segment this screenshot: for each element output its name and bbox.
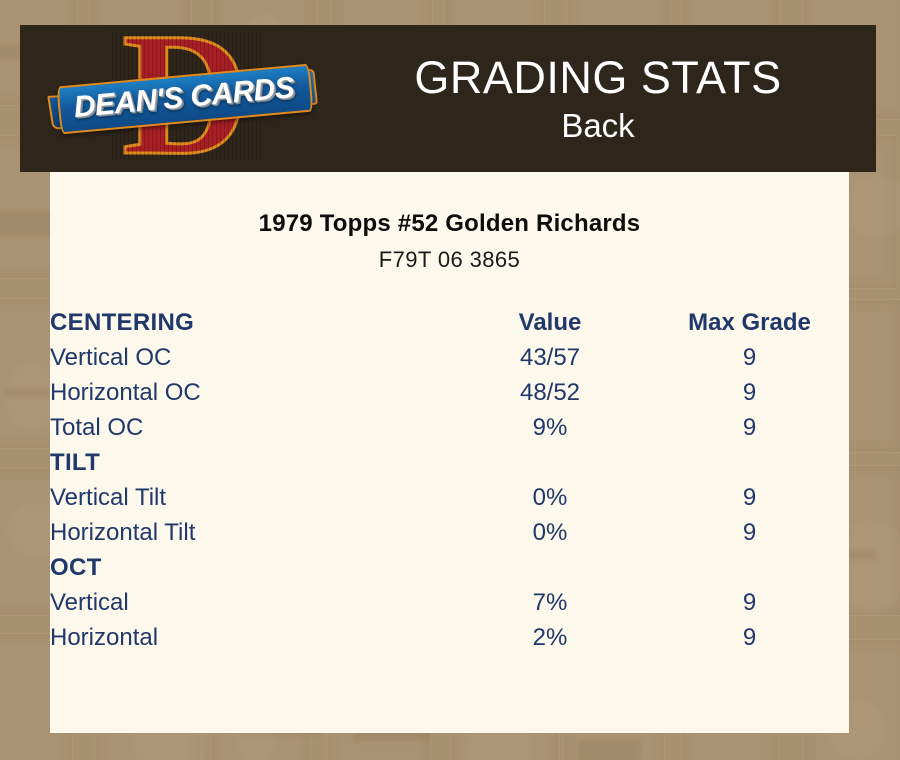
column-header-max-grade (650, 550, 849, 585)
stat-value: 2% (450, 620, 650, 655)
section-header-label: TILT (50, 445, 450, 480)
card-title: 1979 Topps #52 Golden Richards (50, 210, 849, 238)
card-code: F79T 06 3865 (50, 247, 849, 273)
column-header-value: Value (450, 305, 650, 340)
column-header-value (450, 550, 650, 585)
stat-label: Vertical Tilt (50, 480, 450, 515)
section-header-row: CENTERINGValueMax Grade (50, 305, 849, 340)
stat-label: Total OC (50, 410, 450, 445)
table-row: Vertical OC43/579 (50, 340, 849, 375)
header-title-block: GRADING STATS Back (320, 25, 876, 172)
stat-label: Horizontal Tilt (50, 515, 450, 550)
section-header-label: CENTERING (50, 305, 450, 340)
table-row: Horizontal2%9 (50, 620, 849, 655)
table-row: Total OC9%9 (50, 410, 849, 445)
content-panel: 1979 Topps #52 Golden Richards F79T 06 3… (50, 172, 849, 733)
section-header-row: TILT (50, 445, 849, 480)
column-header-max-grade: Max Grade (650, 305, 849, 340)
logo-ribbon: DEAN'S CARDS (50, 69, 316, 131)
table-row: Horizontal Tilt0%9 (50, 515, 849, 550)
section-header-label: OCT (50, 550, 450, 585)
stat-value: 48/52 (450, 375, 650, 410)
stat-label: Horizontal (50, 620, 450, 655)
deans-cards-logo[interactable]: D DEAN'S CARDS (50, 25, 320, 172)
header-band: D DEAN'S CARDS GRADING STATS Back (20, 25, 876, 172)
stat-label: Vertical OC (50, 340, 450, 375)
stat-value: 43/57 (450, 340, 650, 375)
stat-value: 0% (450, 515, 650, 550)
section-header-row: OCT (50, 550, 849, 585)
table-row: Vertical Tilt0%9 (50, 480, 849, 515)
column-header-max-grade (650, 445, 849, 480)
stat-max-grade: 9 (650, 375, 849, 410)
grading-stats-table: CENTERINGValueMax GradeVertical OC43/579… (50, 305, 849, 655)
stat-max-grade: 9 (650, 620, 849, 655)
stat-value: 0% (450, 480, 650, 515)
stat-label: Vertical (50, 585, 450, 620)
grading-stats-document: D DEAN'S CARDS GRADING STATS Back 1979 T… (0, 0, 900, 760)
stat-max-grade: 9 (650, 340, 849, 375)
column-header-value (450, 445, 650, 480)
page-title: GRADING STATS (414, 52, 781, 104)
table-row: Horizontal OC48/529 (50, 375, 849, 410)
stat-label: Horizontal OC (50, 375, 450, 410)
stat-max-grade: 9 (650, 480, 849, 515)
grading-stats-body: CENTERINGValueMax GradeVertical OC43/579… (50, 305, 849, 655)
page-subtitle: Back (561, 107, 634, 145)
stat-value: 7% (450, 585, 650, 620)
stat-max-grade: 9 (650, 585, 849, 620)
stat-max-grade: 9 (650, 515, 849, 550)
stat-value: 9% (450, 410, 650, 445)
table-row: Vertical7%9 (50, 585, 849, 620)
stat-max-grade: 9 (650, 410, 849, 445)
